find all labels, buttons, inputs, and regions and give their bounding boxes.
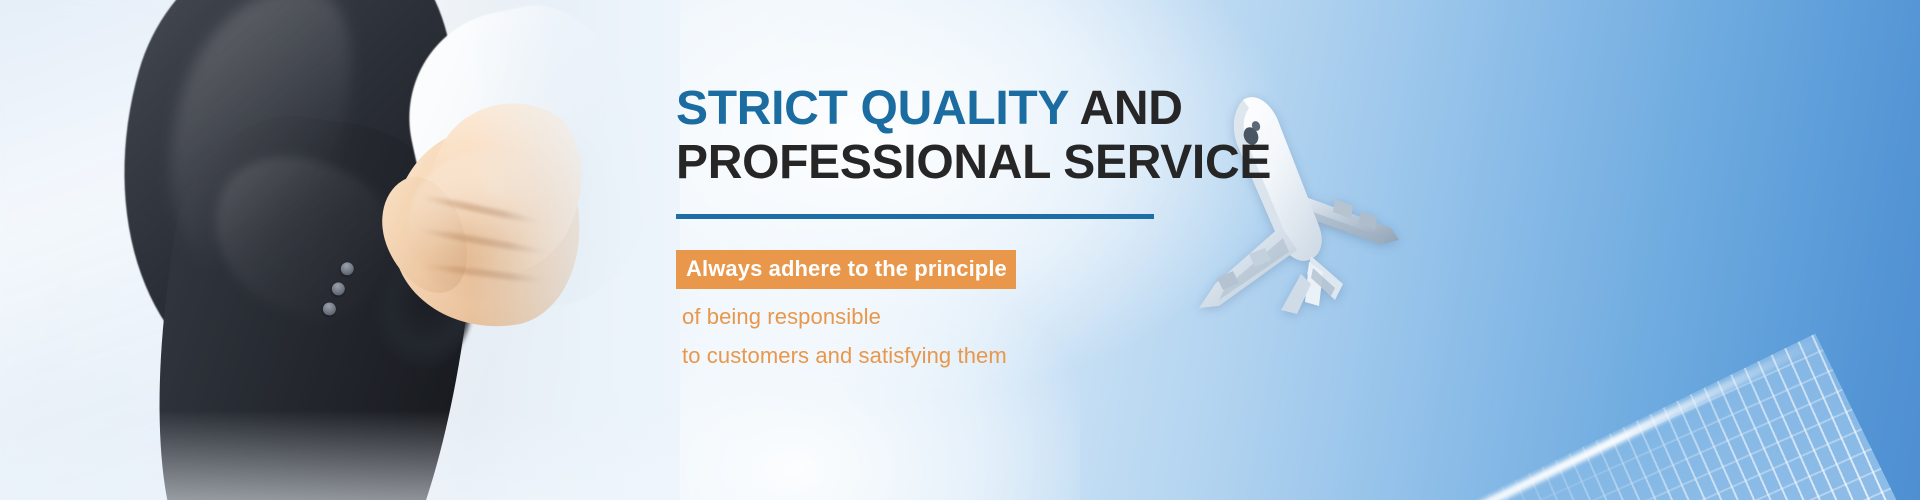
divider-rule xyxy=(676,214,1154,219)
headline-accent: STRICT QUALITY xyxy=(676,82,1068,135)
tagline-line2: of being responsible xyxy=(682,306,1296,328)
headline-line2: PROFESSIONAL SERVICE xyxy=(676,136,1271,189)
promo-banner: STRICT QUALITY AND PROFESSIONAL SERVICE … xyxy=(0,0,1920,500)
banner-content: STRICT QUALITY AND PROFESSIONAL SERVICE … xyxy=(676,82,1296,367)
business-handshake-photo xyxy=(0,0,680,500)
tagline-line3: to customers and satisfying them xyxy=(682,345,1296,367)
glass-building-icon xyxy=(1312,333,1920,500)
headline-line1-rest: AND xyxy=(1068,82,1182,135)
tagline-block: Always adhere to the principle of being … xyxy=(676,250,1296,367)
tagline-highlight: Always adhere to the principle xyxy=(676,250,1016,289)
headline: STRICT QUALITY AND PROFESSIONAL SERVICE xyxy=(676,82,1296,190)
